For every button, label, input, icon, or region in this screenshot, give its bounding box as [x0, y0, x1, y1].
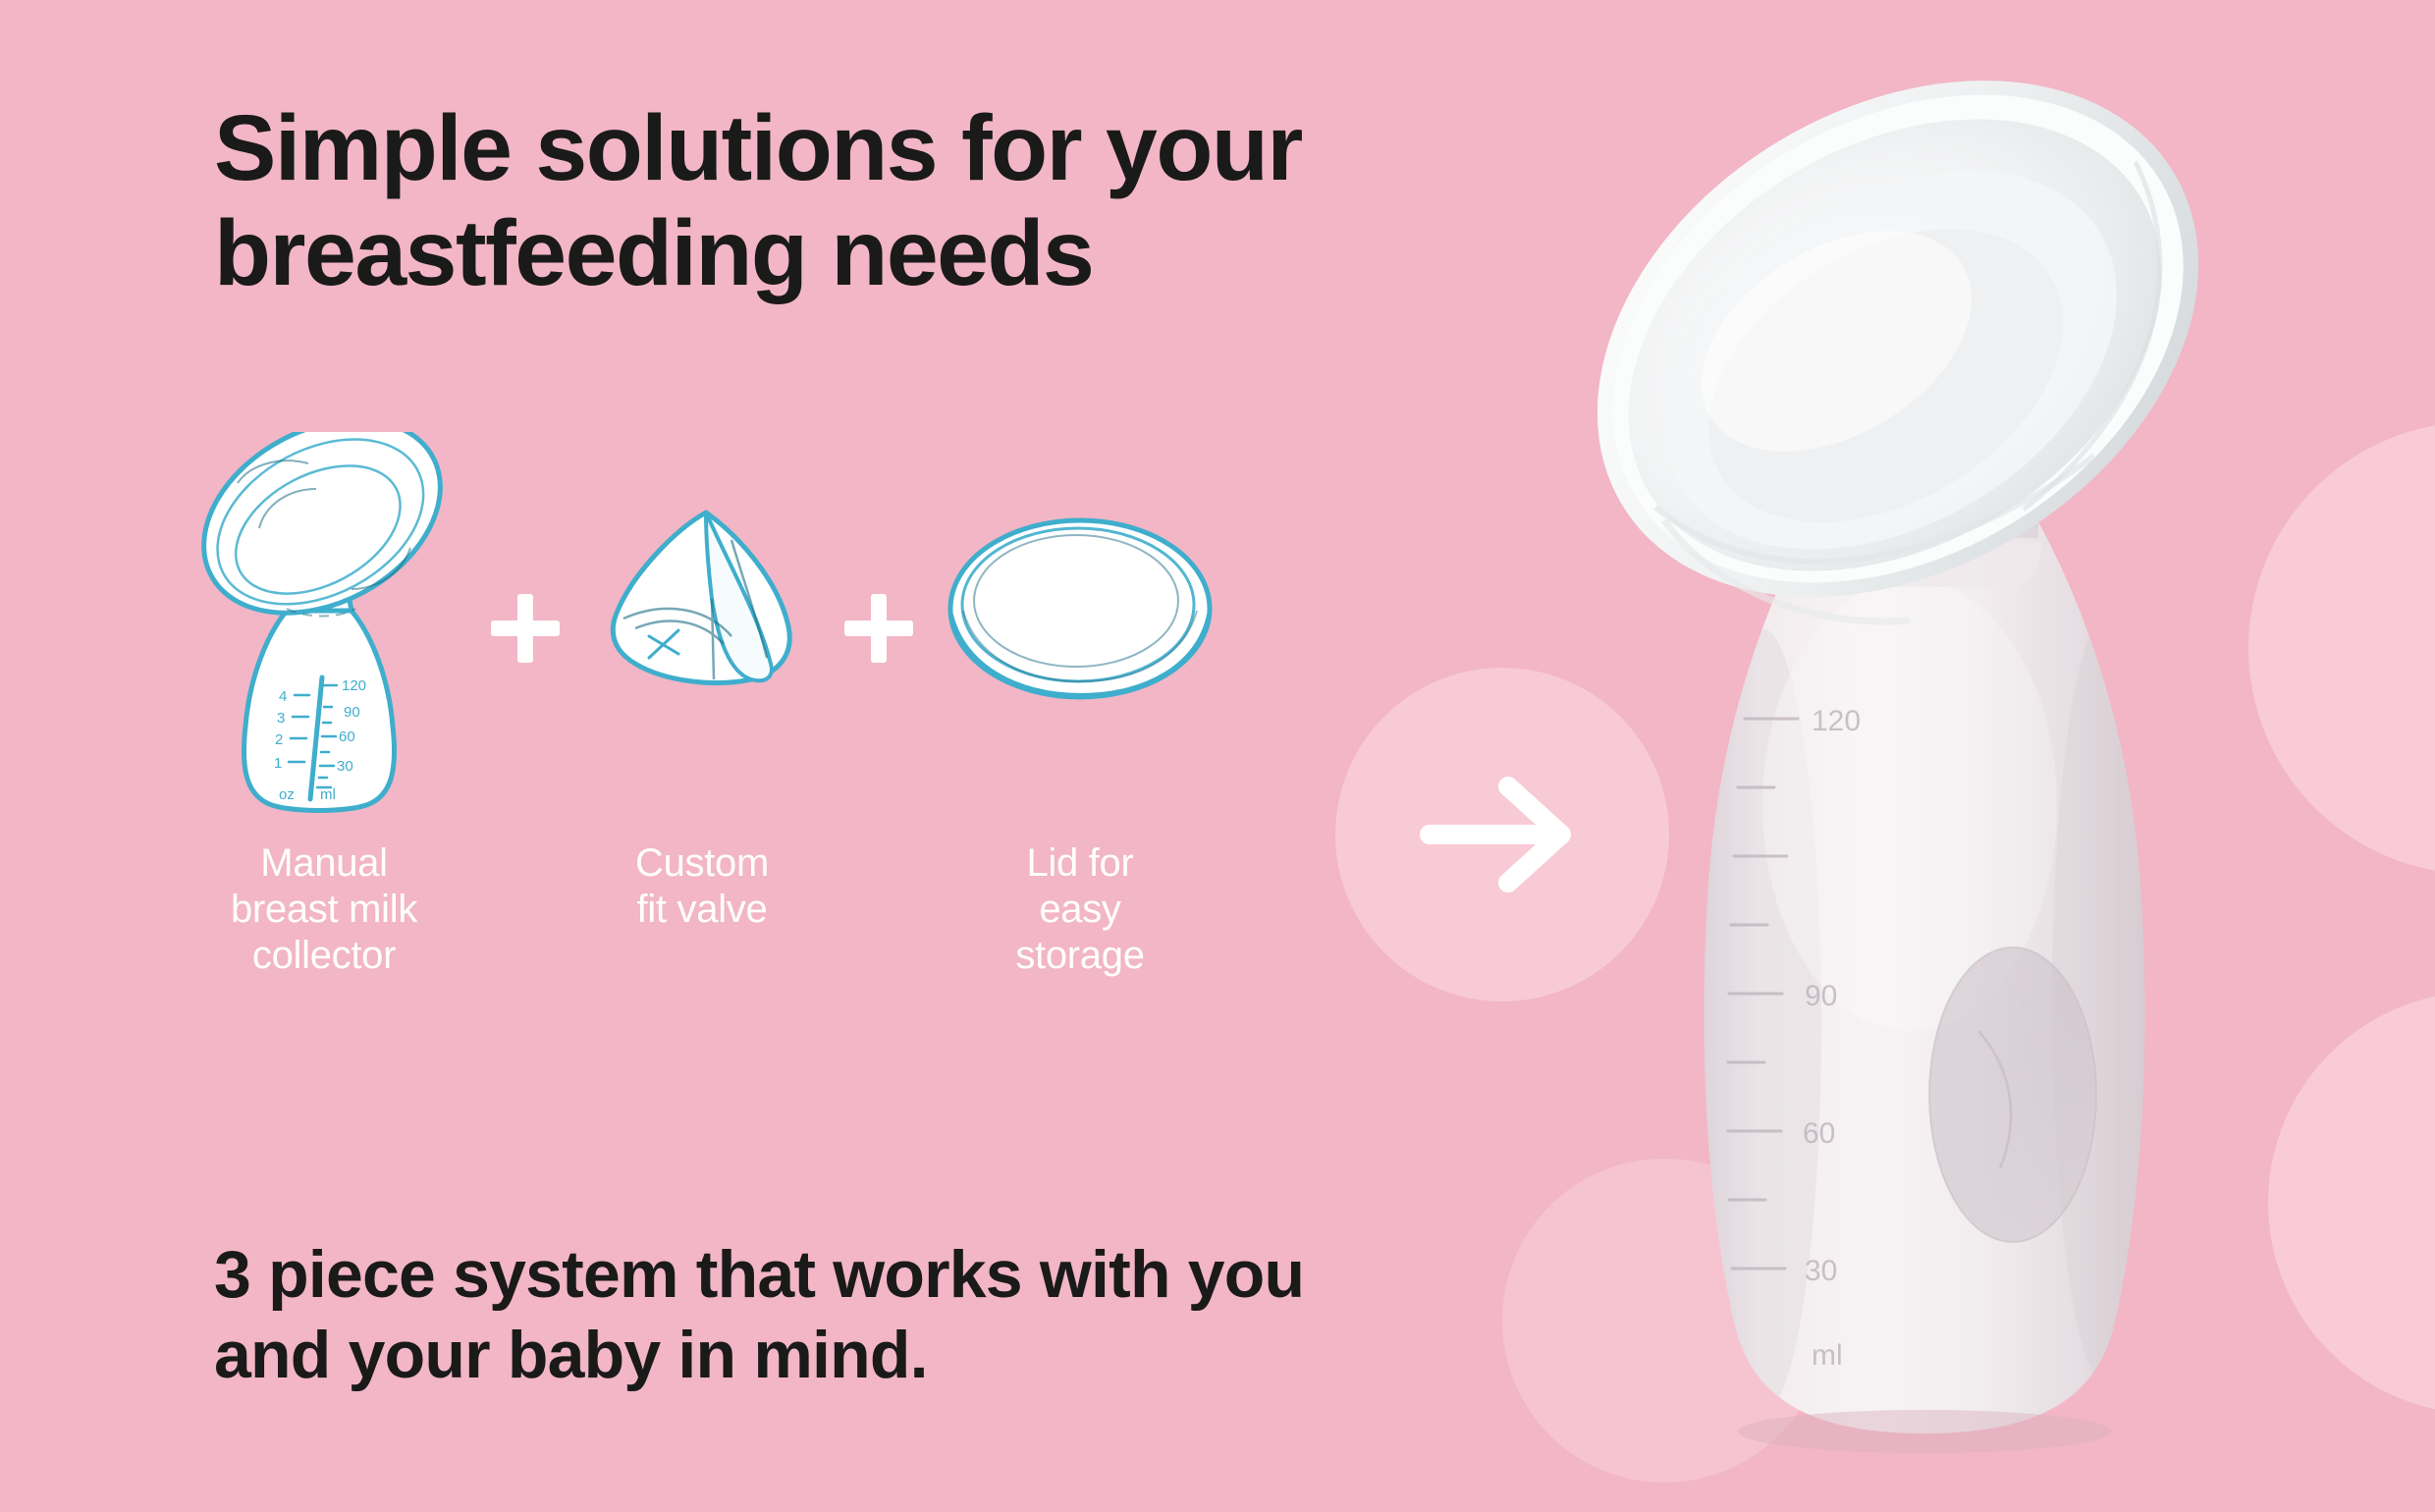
tagline-line-2: and your baby in mind. [214, 1318, 928, 1392]
label-line-2: breast milk [231, 888, 417, 931]
page-title: Simple solutions for your breastfeeding … [214, 96, 1608, 307]
piece-label-collector: Manual breast milk collector [231, 840, 417, 980]
three-piece-system-row: 4 3 2 1 120 60 30 90 oz ml Manual breast… [177, 432, 1335, 952]
label-line-1: Custom [635, 841, 769, 885]
arrow-right-icon [1414, 771, 1591, 898]
svg-text:120: 120 [342, 677, 366, 694]
plus-separator-2 [825, 432, 933, 825]
svg-text:1: 1 [274, 755, 282, 772]
svg-text:60: 60 [339, 729, 355, 745]
plus-separator-1 [471, 432, 579, 825]
manual-breast-milk-collector-icon: 4 3 2 1 120 60 30 90 oz ml [177, 432, 471, 825]
piece-manual-breast-milk-collector: 4 3 2 1 120 60 30 90 oz ml Manual breast… [177, 432, 471, 980]
svg-text:30: 30 [337, 758, 353, 775]
svg-text:ml: ml [1812, 1339, 1843, 1372]
custom-fit-valve-icon [584, 432, 820, 825]
label-line-2: fit valve [637, 888, 768, 931]
svg-text:90: 90 [344, 704, 360, 721]
label-line-1: Manual [260, 841, 387, 885]
svg-text:120: 120 [1812, 705, 1861, 737]
svg-text:30: 30 [1805, 1255, 1837, 1287]
piece-label-valve: Custom fit valve [635, 840, 769, 933]
svg-text:90: 90 [1805, 980, 1837, 1012]
tagline-line-1: 3 piece system that works with you [214, 1237, 1304, 1312]
svg-text:3: 3 [277, 710, 285, 727]
headline-line-2: breastfeeding needs [214, 201, 1093, 305]
label-line-3: collector [252, 934, 396, 977]
label-line-1: Lid for [1026, 841, 1133, 885]
arrow-badge [1335, 668, 1669, 1001]
plus-icon [842, 592, 915, 665]
svg-text:60: 60 [1803, 1117, 1835, 1150]
piece-custom-fit-valve: Custom fit valve [579, 432, 825, 933]
svg-text:2: 2 [275, 731, 283, 748]
headline-line-1: Simple solutions for your [214, 96, 1302, 200]
tagline: 3 piece system that works with you and y… [214, 1235, 1490, 1395]
svg-text:ml: ml [320, 786, 336, 803]
svg-text:oz: oz [279, 786, 295, 803]
lid-for-easy-storage-icon [938, 432, 1222, 825]
svg-text:4: 4 [279, 688, 287, 705]
label-line-3: storage [1015, 934, 1144, 977]
plus-icon [489, 592, 562, 665]
piece-label-lid: Lid for easy storage [1015, 840, 1144, 980]
label-line-2: easy [1039, 888, 1120, 931]
piece-lid-for-easy-storage: Lid for easy storage [933, 432, 1227, 980]
